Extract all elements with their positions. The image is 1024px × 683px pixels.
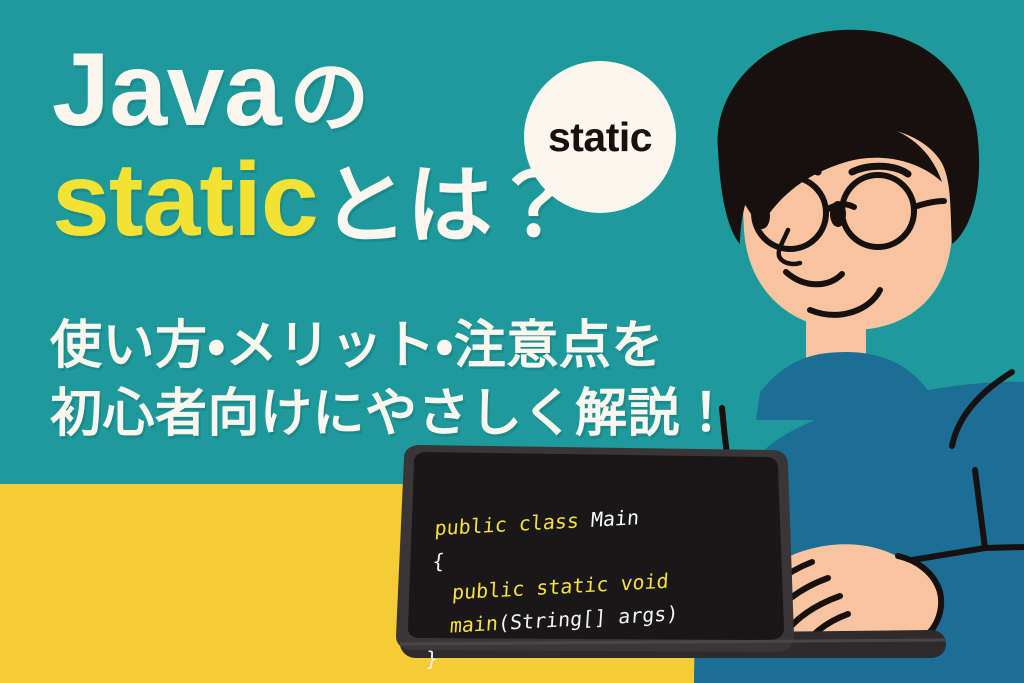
headline-particle-no: の [289,53,369,142]
headline-static: static [52,142,318,258]
figure-head [718,30,980,330]
subtitle-block: 使い方・メリット・注意点を 初心者向けにやさしく解説！ [50,313,710,448]
banner-canvas: public class Main { public static void m… [0,0,1024,683]
headline-java: Java [52,32,281,148]
static-badge-label: static [548,114,652,161]
static-badge: static [524,61,676,213]
sweater-collar [756,352,932,420]
subtitle-line-2: 初心者向けにやさしく解説！ [50,381,710,449]
subtitle-line-1: 使い方・メリット・注意点を [50,313,710,381]
